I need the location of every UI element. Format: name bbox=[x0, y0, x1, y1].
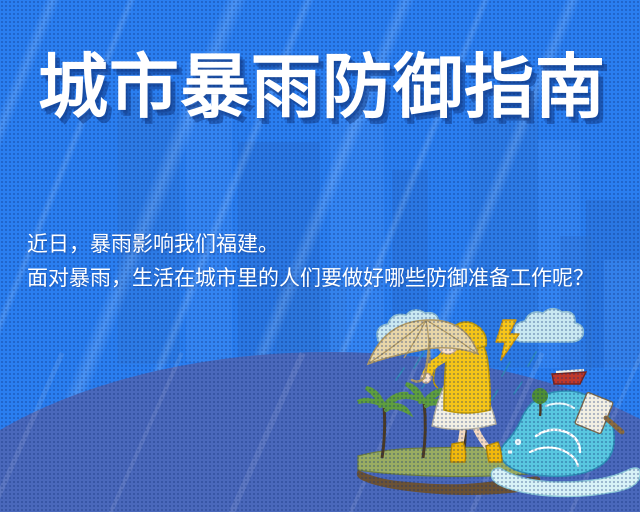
flood-wave bbox=[491, 388, 640, 497]
rainstorm-illustration bbox=[340, 300, 640, 512]
body-text: 近日，暴雨影响我们福建。 面对暴雨，生活在城市里的人们要做好哪些防御准备工作呢？ bbox=[27, 228, 627, 296]
body-line-1: 近日，暴雨影响我们福建。 bbox=[27, 228, 627, 262]
cloud-right-icon bbox=[514, 309, 583, 342]
page-title: 城市暴雨防御指南 bbox=[38, 50, 618, 126]
poster-canvas: 城市暴雨防御指南 近日，暴雨影响我们福建。 面对暴雨，生活在城市里的人们要做好哪… bbox=[0, 0, 640, 512]
boat-icon bbox=[552, 370, 586, 384]
body-line-2: 面对暴雨，生活在城市里的人们要做好哪些防御准备工作呢？ bbox=[27, 262, 627, 296]
